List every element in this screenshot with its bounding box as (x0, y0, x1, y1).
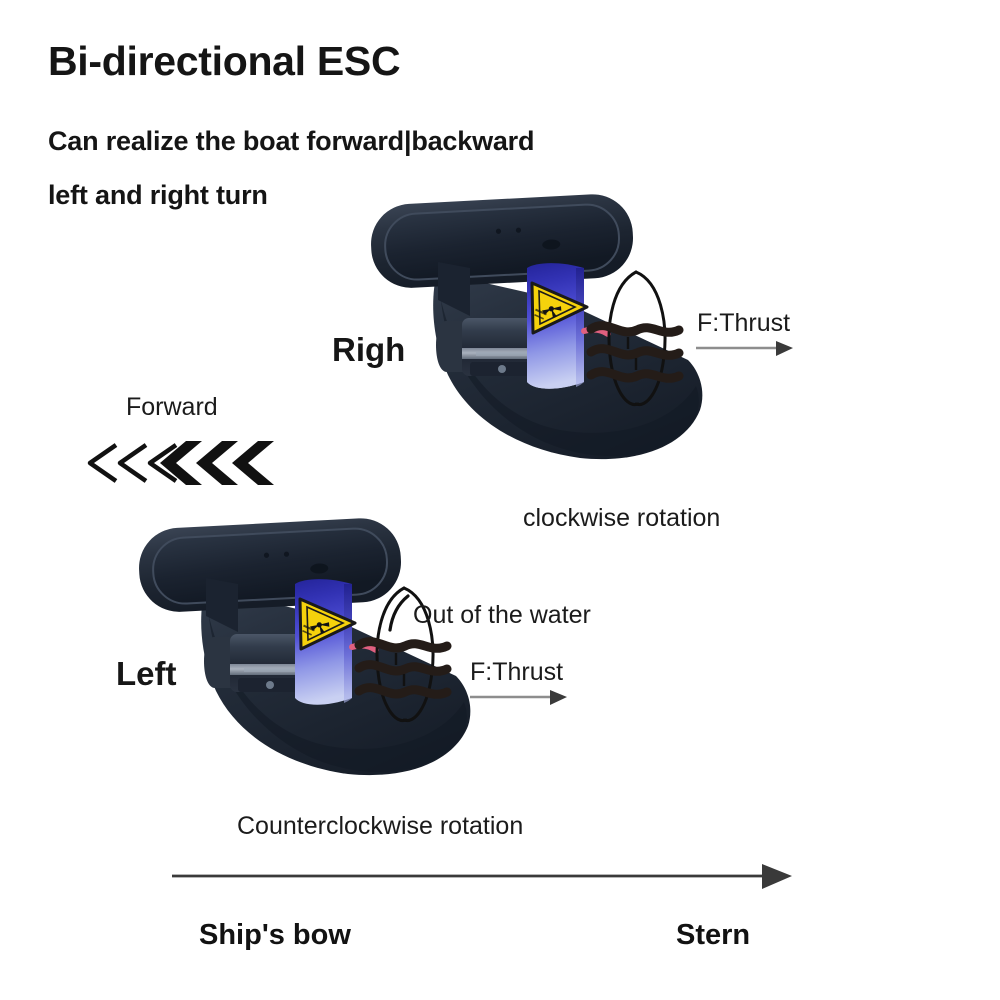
out-of-water-label: Out of the water (413, 601, 591, 630)
blue-band-top (527, 263, 587, 389)
caption-counterclockwise-rotation: Counterclockwise rotation (237, 812, 523, 841)
strut-top (438, 262, 470, 316)
thrust-arrow-top (696, 341, 793, 356)
label-right-turn: Righ (332, 331, 405, 369)
out-of-water-pointer (390, 596, 408, 630)
page-title: Bi-directional ESC (48, 38, 400, 85)
motor-housing-top (436, 318, 538, 376)
caption-clockwise-rotation: clockwise rotation (523, 504, 720, 533)
motor-housing-bottom (204, 634, 306, 692)
subtitle-line-1: Can realize the boat forward|backward (48, 126, 534, 157)
mount-plate-inner-top (384, 203, 621, 281)
warning-triangle-icon-bottom (300, 599, 355, 649)
thrust-label-bottom: F:Thrust (470, 658, 563, 687)
label-left-turn: Left (116, 655, 177, 693)
stern-label: Stern (676, 919, 750, 952)
thrust-label-top: F:Thrust (697, 309, 790, 338)
ship-bow-label: Ship's bow (199, 919, 351, 952)
product-photo-top (369, 192, 702, 459)
thrust-arrow-bottom (470, 690, 567, 705)
flow-lines-bottom (359, 642, 447, 695)
forward-label: Forward (126, 393, 218, 422)
bow-stern-axis-arrow (172, 864, 792, 889)
wire-pink-top (584, 330, 608, 334)
strut-bottom (206, 578, 238, 632)
product-photo-bottom (137, 516, 470, 775)
warning-triangle-icon (532, 283, 587, 333)
fin-blade-top (433, 272, 702, 459)
product-infographic: Bi-directional ESC Can realize the boat … (0, 0, 1000, 1000)
forward-chevrons (90, 441, 274, 485)
mount-plate-top (369, 192, 635, 290)
flow-lines-top (591, 326, 679, 379)
subtitle-line-2: left and right turn (48, 180, 268, 211)
wire-pink-bottom (352, 646, 376, 650)
fin-blade-top-lower (441, 300, 699, 456)
blue-band-bottom (295, 579, 355, 705)
mount-plate-bottom (137, 516, 403, 614)
propeller-outline-top (636, 272, 665, 405)
